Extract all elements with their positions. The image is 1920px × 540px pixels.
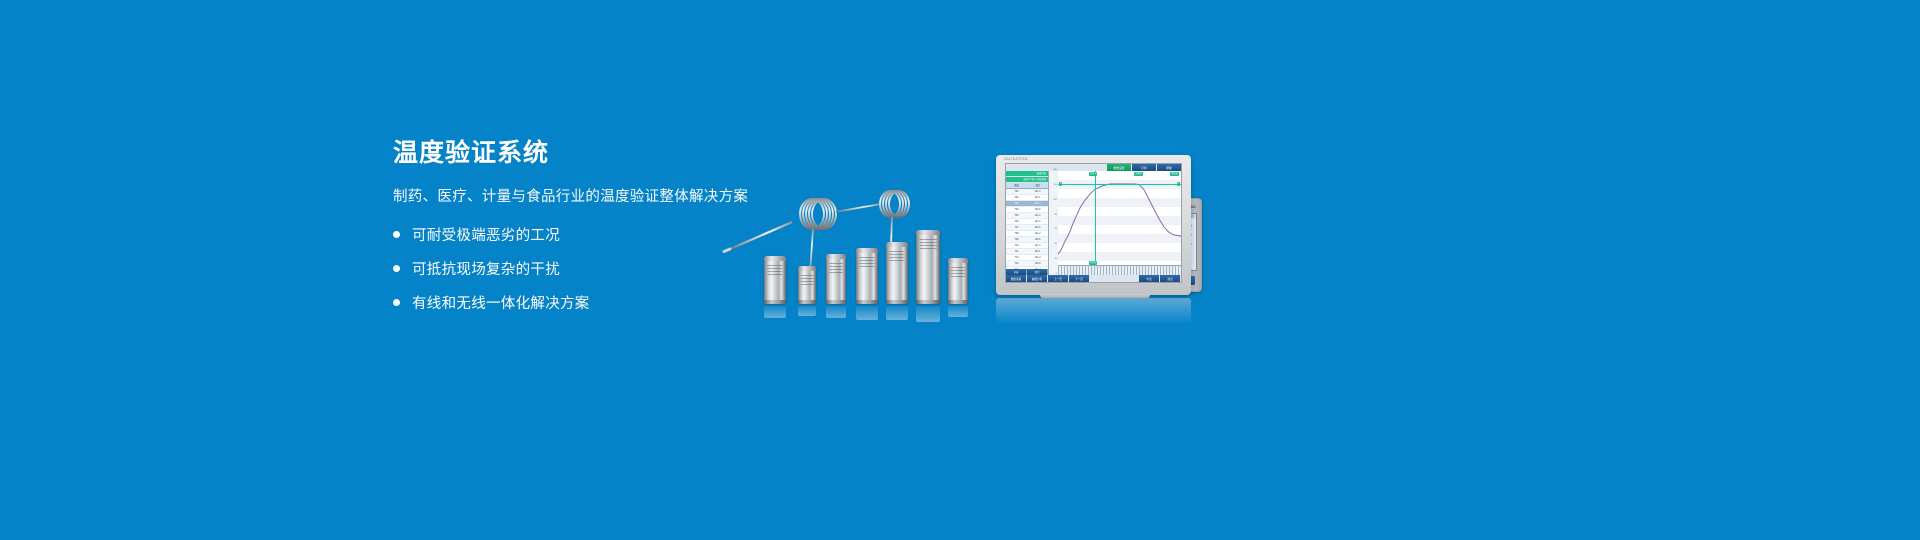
cell-temp: 121.4 (1027, 255, 1048, 260)
phase-marker-sterilize[interactable]: 灭菌段 (1134, 172, 1143, 176)
cell-temp: 121.2 (1027, 213, 1048, 218)
bottom-button-analyze[interactable]: 曲线分析 (1027, 275, 1047, 282)
bullet-dot-icon (393, 231, 400, 238)
software-body: 通道列表 灭菌 F0 值 / 温度曲线 通道 温度 T01121.3 T0212… (1006, 171, 1181, 275)
bottom-button-next[interactable]: 下一页 (1069, 275, 1089, 282)
logger-label-icon (859, 257, 874, 267)
cell-temp: 121.3 (1027, 189, 1048, 194)
column-header-channel: 通道 (1006, 183, 1027, 188)
y-tick-label: 120 (1053, 184, 1057, 186)
feature-label: 有线和无线一体化解决方案 (412, 292, 590, 313)
logger-reflection (826, 304, 846, 318)
y-tick-label: 100 (1053, 199, 1057, 201)
cell-channel: T10 (1006, 243, 1027, 248)
channel-side-panel: 通道列表 灭菌 F0 值 / 温度曲线 通道 温度 T01121.3 T0212… (1006, 171, 1049, 275)
software-screen: 参数设置 打印 帮助 通道列表 灭菌 F0 值 / 温度曲线 通道 温度 T01… (1005, 163, 1182, 283)
logger-label-icon (801, 275, 814, 285)
data-logger-body (798, 266, 816, 304)
bottom-button-read[interactable]: 数据读取 (1006, 275, 1026, 282)
y-tick-label: 80 (1055, 214, 1057, 216)
channel-table-rows: T01121.3 T02121.1 T03121.4 T04120.9 T051… (1006, 189, 1048, 269)
toolbar-button-help[interactable]: 帮助 (1157, 164, 1181, 171)
data-logger-body (916, 230, 940, 304)
bullet-dot-icon (393, 265, 400, 272)
y-tick-label: 20 (1055, 258, 1057, 260)
cell-channel: T09 (1006, 237, 1027, 242)
level-marker-right[interactable]: B (1177, 182, 1180, 186)
cell-channel: T01 (1006, 189, 1027, 194)
cell-temp: 120.9 (1027, 261, 1048, 266)
chart-horizontal-cursor[interactable] (1058, 184, 1181, 185)
data-logger-body (948, 258, 968, 304)
software-top-toolbar: 参数设置 打印 帮助 (1006, 164, 1181, 171)
monitor-bezel-brand: VALIDATION (1004, 157, 1028, 161)
logger-reflection (948, 304, 968, 317)
wire-probe-assembly-icon (720, 178, 980, 338)
cell-temp: 120.8 (1027, 237, 1048, 242)
toolbar-button-print[interactable]: 打印 (1132, 164, 1156, 171)
logger-label-icon (951, 267, 965, 277)
bottom-button-prev[interactable]: 上一页 (1048, 275, 1068, 282)
chevron-right-icon: › (1191, 233, 1192, 238)
cursor-top-marker[interactable]: 光标 A (1089, 172, 1097, 176)
logger-reflection (798, 304, 816, 316)
toolbar-button-params[interactable]: 参数设置 (1107, 164, 1131, 171)
temperature-curve (1058, 171, 1181, 266)
logger-reflection (886, 304, 908, 320)
logger-label-icon (829, 263, 843, 273)
cell-temp: 121.2 (1027, 231, 1048, 236)
cell-channel: T11 (1006, 249, 1027, 254)
cell-temp: 120.9 (1027, 207, 1048, 212)
data-logger-body (856, 248, 878, 304)
temperature-chart: 020406080100120140 光标 A 时间点 A B 灭菌段 降温段 (1049, 171, 1181, 275)
cell-channel: T13 (1006, 261, 1027, 266)
data-logger-body (826, 254, 846, 304)
software-bottom-toolbar: 数据读取 曲线分析 上一页 下一页 导出 退出 (1006, 275, 1181, 282)
chart-plot-area: 光标 A 时间点 A B 灭菌段 降温段 (1058, 171, 1181, 266)
cell-temp: 121.1 (1027, 195, 1048, 200)
bottom-button-export[interactable]: 导出 (1139, 275, 1159, 282)
toolbar-spacer (1090, 275, 1139, 282)
cell-temp: 121.1 (1027, 249, 1048, 254)
logger-reflection (916, 304, 940, 322)
cell-channel: T07 (1006, 225, 1027, 230)
bottom-button-exit[interactable]: 退出 (1160, 275, 1180, 282)
y-tick-label: 40 (1055, 243, 1057, 245)
feature-label: 可耐受极端恶劣的工况 (412, 224, 560, 245)
y-tick-label: 140 (1053, 169, 1057, 171)
y-tick-label: 0 (1056, 273, 1057, 275)
logger-reflection (856, 304, 878, 320)
column-header-temp: 温度 (1027, 183, 1048, 188)
cell-temp: 121.3 (1027, 243, 1048, 248)
hero-banner: 温度验证系统 制药、医疗、计量与食品行业的温度验证整体解决方案 可耐受极端恶劣的… (0, 0, 1920, 540)
logger-label-icon (767, 265, 782, 275)
bullet-dot-icon (393, 299, 400, 306)
cell-channel: T08 (1006, 231, 1027, 236)
cell-channel: T06 (1006, 219, 1027, 224)
chevron-right-icon: › (1191, 242, 1192, 247)
data-logger-body (764, 256, 786, 304)
cell-temp: 121.0 (1027, 219, 1048, 224)
logger-label-icon (920, 239, 937, 249)
cell-channel: T05 (1006, 213, 1027, 218)
y-tick-label: 60 (1055, 228, 1057, 230)
phase-marker-cooldown[interactable]: 降温段 (1170, 172, 1179, 176)
logger-reflection (764, 304, 786, 318)
monitor-display: VALIDATION 参数设置 打印 帮助 通道列表 灭菌 F0 值 / 温度曲… (996, 155, 1191, 295)
cell-channel: T02 (1006, 195, 1027, 200)
cell-temp: 121.5 (1027, 225, 1048, 230)
logger-label-icon (889, 251, 904, 261)
data-logger-body (886, 242, 908, 304)
cell-channel: T04 (1006, 207, 1027, 212)
cell-channel: T12 (1006, 255, 1027, 260)
chart-x-axis (1058, 265, 1181, 275)
monitor-reflection (996, 298, 1191, 324)
cell-temp: 121.4 (1027, 201, 1048, 206)
feature-label: 可抵抗现场复杂的干扰 (412, 258, 560, 279)
cell-channel: T03 (1006, 201, 1027, 206)
handheld-model-label: M1 (1191, 205, 1196, 209)
level-marker-left[interactable]: A (1059, 182, 1062, 186)
chart-vertical-cursor[interactable] (1095, 171, 1096, 266)
